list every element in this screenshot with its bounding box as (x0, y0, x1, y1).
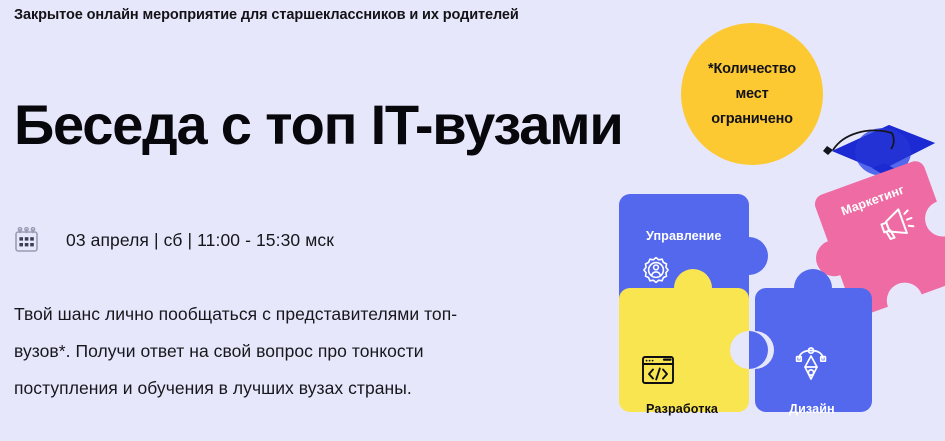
description-line-2: вузов*. Получи ответ на свой вопрос про … (14, 333, 544, 370)
badge-line-2: мест (736, 82, 769, 107)
puzzle-piece-development[interactable]: Разработка (619, 269, 749, 416)
calendar-icon (14, 227, 39, 253)
puzzle-piece-design[interactable]: Дизайн (749, 269, 872, 416)
event-schedule: 03 апреля | сб | 11:00 - 15:30 мск (14, 224, 334, 256)
puzzle-label-development: Разработка (646, 402, 719, 416)
event-date-text: 03 апреля | сб | 11:00 - 15:30 мск (66, 230, 334, 251)
badge-line-3: ограничено (711, 107, 793, 132)
event-description: Твой шанс лично пообщаться с представите… (14, 296, 544, 407)
event-banner: Закрытое онлайн мероприятие для старшекл… (0, 0, 945, 441)
page-title: Беседа с топ IT-вузами (14, 96, 623, 155)
puzzle-label-design: Дизайн (789, 402, 835, 416)
limited-seats-badge: *Количество мест ограничено (681, 23, 823, 165)
description-line-1: Твой шанс лично пообщаться с представите… (14, 296, 544, 333)
puzzle-label-management: Управление (646, 229, 721, 243)
badge-line-1: *Количество (708, 57, 796, 82)
puzzle-illustration: *Количество мест ограничено Маркетинг (600, 0, 945, 441)
description-line-3: поступления и обучения в лучших вузах ст… (14, 370, 544, 407)
eyebrow-text: Закрытое онлайн мероприятие для старшекл… (14, 7, 519, 23)
